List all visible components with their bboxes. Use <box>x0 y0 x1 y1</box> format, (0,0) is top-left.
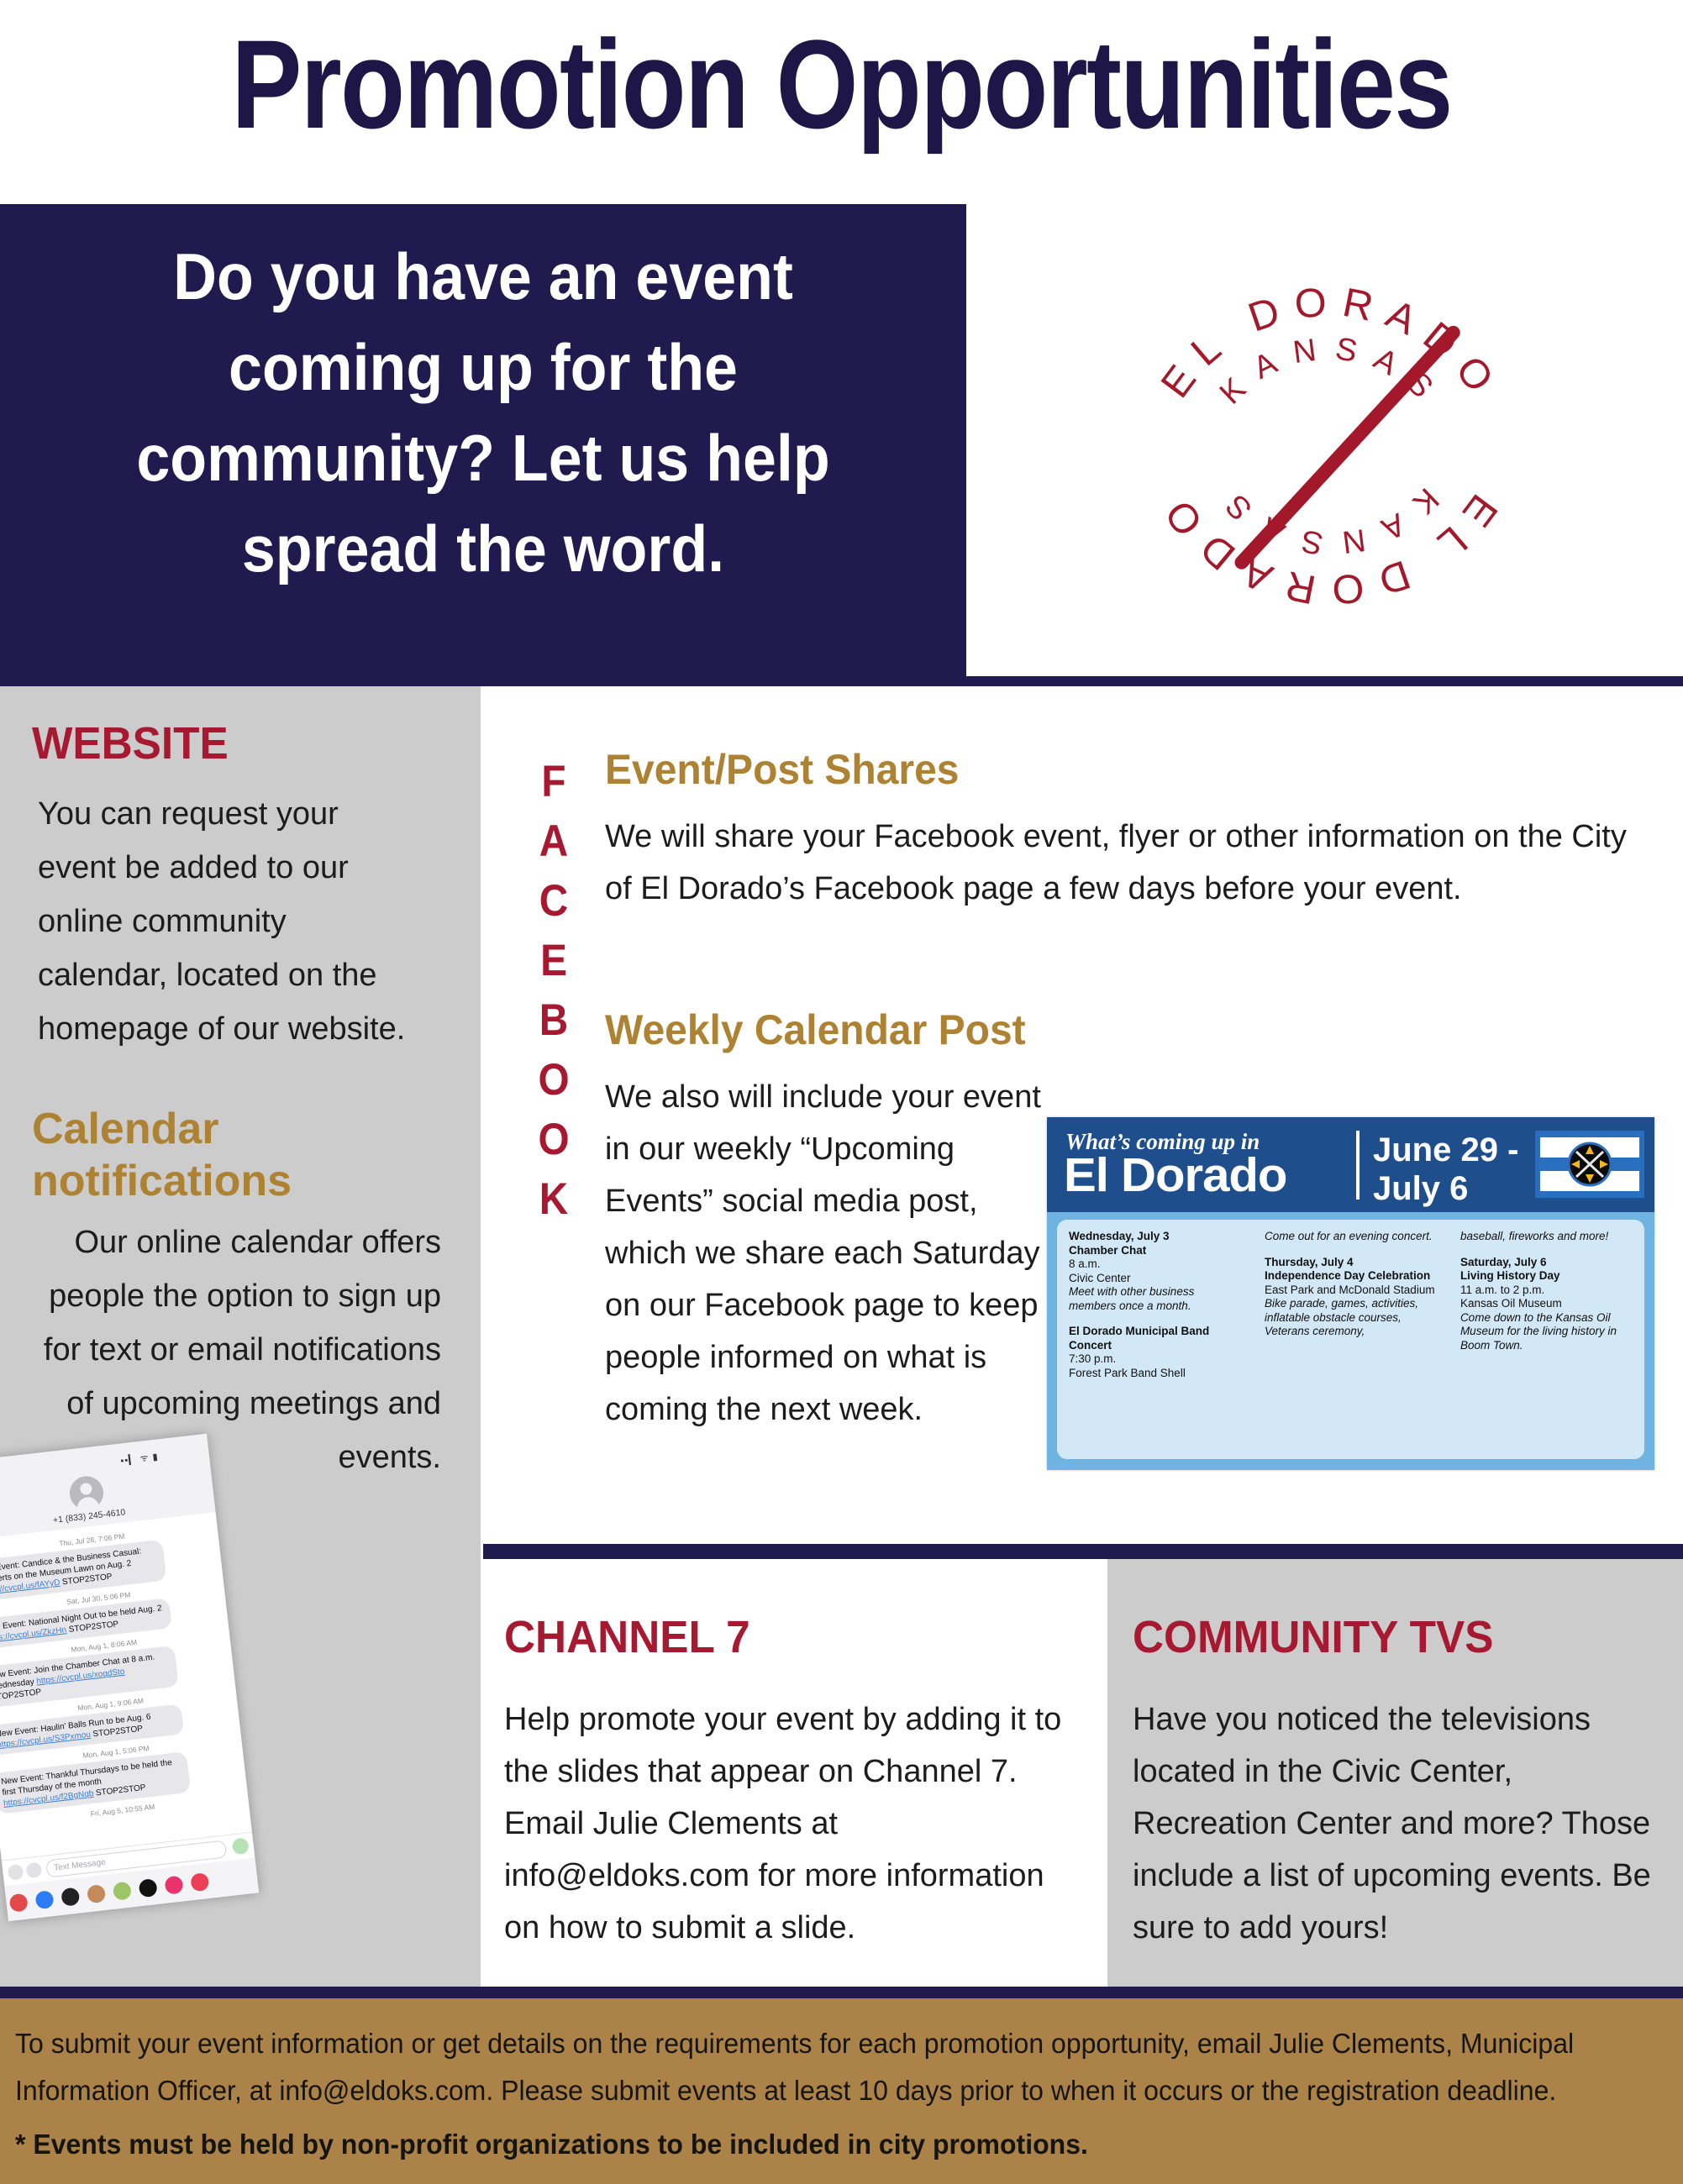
entry-desc: Come out for an evening concert. <box>1265 1230 1440 1244</box>
dock-search-icon[interactable] <box>165 1875 184 1894</box>
weekly-card-entry: Thursday, July 4 Independence Day Celebr… <box>1265 1256 1440 1339</box>
weekly-card-entry: Wednesday, July 3 Chamber Chat 8 a.m. Ci… <box>1069 1230 1244 1313</box>
dock-cash-icon[interactable] <box>60 1887 80 1907</box>
community-tvs-heading: COMMUNITY TVS <box>1133 1611 1493 1663</box>
weekly-card-entry: baseball, fireworks and more! <box>1460 1230 1636 1244</box>
facebook-letter: B <box>531 990 576 1050</box>
facebook-letter: E <box>531 931 576 990</box>
community-tvs-section: COMMUNITY TVS Have you noticed the telev… <box>1107 1559 1683 1987</box>
weekly-card-column: Come out for an evening concert. Thursda… <box>1253 1220 1449 1459</box>
website-body: You can request your event be added to o… <box>38 787 408 1056</box>
app-store-icon[interactable] <box>25 1861 42 1878</box>
dock-photos-icon[interactable] <box>113 1882 132 1901</box>
entry-desc: baseball, fireworks and more! <box>1460 1230 1636 1244</box>
facebook-letter: F <box>531 752 576 811</box>
footer-top-bar <box>0 1987 1683 1998</box>
weekly-card-divider <box>1356 1131 1360 1200</box>
send-arrow-icon[interactable] <box>232 1837 250 1855</box>
channel7-body: Help promote your event by adding it to … <box>504 1693 1084 1954</box>
entry-place: East Park and McDonald Stadium <box>1265 1284 1440 1298</box>
entry-title: Chamber Chat <box>1069 1244 1244 1258</box>
facebook-letter: O <box>531 1050 576 1110</box>
website-heading: WEBSITE <box>32 717 229 769</box>
dock-music-icon[interactable] <box>139 1878 158 1898</box>
entry-desc: Come down to the Kansas Oil Museum for t… <box>1460 1311 1636 1353</box>
avatar <box>68 1474 105 1511</box>
channel7-heading: CHANNEL 7 <box>504 1611 750 1663</box>
facebook-subheading: Weekly Calendar Post <box>605 1005 1597 1054</box>
entry-desc: Bike parade, games, activities, inflatab… <box>1265 1297 1440 1339</box>
calendar-notifications-heading: Calendar notifications <box>32 1103 452 1207</box>
entry-place: Kansas Oil Museum <box>1460 1297 1636 1311</box>
entry-title: El Dorado Municipal Band Concert <box>1069 1325 1244 1352</box>
footer-note: * Events must be held by non-profit orga… <box>15 2126 1612 2163</box>
community-tvs-body: Have you noticed the televisions located… <box>1133 1693 1670 1954</box>
facebook-body: We also will include your event in our w… <box>605 1071 1050 1436</box>
page-title: Promotion Opportunities <box>134 8 1549 176</box>
weekly-card-city: El Dorado <box>1064 1151 1286 1200</box>
calendar-notifications-body: Our online calendar offers people the op… <box>38 1215 441 1484</box>
facebook-letter: A <box>531 811 576 871</box>
weekly-card-column: Wednesday, July 3 Chamber Chat 8 a.m. Ci… <box>1057 1220 1253 1459</box>
facebook-subheading: Event/Post Shares <box>605 745 1597 794</box>
dock-app-store-icon[interactable] <box>34 1890 54 1909</box>
weekly-calendar-post-card: What’s coming up in El Dorado June 29 - … <box>1047 1117 1654 1470</box>
weekly-card-date-line1: June 29 - <box>1373 1131 1518 1169</box>
message-suffix: STOP2STOP <box>0 1688 42 1703</box>
weekly-card-column: baseball, fireworks and more! Saturday, … <box>1449 1220 1644 1459</box>
entry-desc: Meet with other business members once a … <box>1069 1285 1244 1313</box>
facebook-letter: C <box>531 871 576 931</box>
facebook-letter: O <box>531 1110 576 1169</box>
dock-apple-music-icon[interactable] <box>191 1872 210 1892</box>
entry-place: Civic Center <box>1069 1272 1244 1286</box>
weekly-card-date-range: June 29 - July 6 <box>1373 1131 1518 1208</box>
camera-icon[interactable] <box>8 1864 24 1881</box>
entry-title: Living History Day <box>1460 1269 1636 1284</box>
facebook-vertical-label: F A C E B O O K <box>531 752 576 1229</box>
entry-date: Thursday, July 4 <box>1265 1256 1440 1270</box>
footer-paragraph: To submit your event information or get … <box>15 2020 1612 2114</box>
entry-date: Wednesday, July 3 <box>1069 1230 1244 1244</box>
hero-navy-panel: Do you have an event coming up for the c… <box>0 204 966 676</box>
weekly-card-header: What’s coming up in El Dorado June 29 - … <box>1047 1117 1654 1212</box>
weekly-card-entry: Saturday, July 6 Living History Day 11 a… <box>1460 1256 1636 1353</box>
flyer-page: Promotion Opportunities Do you have an e… <box>0 0 1683 2184</box>
phone-message-thread: Thu, Jul 28, 7:06 PM New Event: Candice … <box>0 1512 249 1829</box>
section-divider-bar <box>483 1544 1683 1559</box>
entry-time: 11 a.m. to 2 p.m. <box>1460 1284 1636 1298</box>
entry-time: 7:30 p.m. <box>1069 1352 1244 1367</box>
hero-logo-panel: EL DORADO EL DORADO KANSAS KANSAS <box>966 204 1683 676</box>
el-dorado-kansas-logo-icon: EL DORADO EL DORADO KANSAS KANSAS <box>1086 212 1573 665</box>
hero-headline: Do you have an event coming up for the c… <box>85 231 881 594</box>
entry-date: Saturday, July 6 <box>1460 1256 1636 1270</box>
entry-time: 8 a.m. <box>1069 1257 1244 1272</box>
weekly-card-body: Wednesday, July 3 Chamber Chat 8 a.m. Ci… <box>1057 1220 1644 1459</box>
weekly-card-entry: El Dorado Municipal Band Concert 7:30 p.… <box>1069 1325 1244 1380</box>
weekly-card-date-line2: July 6 <box>1373 1169 1518 1208</box>
facebook-letter: K <box>531 1169 576 1229</box>
dock-memoji-icon[interactable] <box>87 1884 106 1903</box>
entry-place: Forest Park Band Shell <box>1069 1367 1244 1381</box>
facebook-body: We will share your Facebook event, flyer… <box>605 811 1638 915</box>
dock-app-icon[interactable] <box>9 1893 29 1913</box>
entry-title: Independence Day Celebration <box>1265 1269 1440 1284</box>
hero-underline-bar <box>0 676 1683 686</box>
weekly-card-entry: Come out for an evening concert. <box>1265 1230 1440 1244</box>
channel7-section: CHANNEL 7 Help promote your event by add… <box>481 1559 1107 1987</box>
footer: To submit your event information or get … <box>0 1998 1683 2184</box>
signal-wifi-battery-icon: ▪▪▎ ᯤ ▮ <box>120 1450 160 1467</box>
el-dorado-city-flag-icon <box>1535 1131 1644 1198</box>
facebook-block-event-post-shares: Event/Post Shares We will share your Fac… <box>605 745 1638 915</box>
